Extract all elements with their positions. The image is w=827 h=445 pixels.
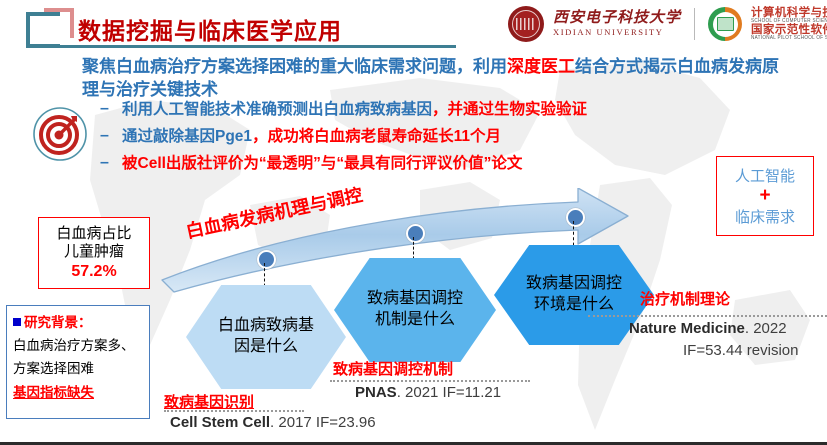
bullet-dash: – xyxy=(100,100,122,118)
hex-3-line1: 致病基因调控 xyxy=(526,274,622,295)
journal-3: Nature Medicine. 2022 xyxy=(629,320,787,337)
page-title: 数据挖掘与临床医学应用 xyxy=(78,12,342,46)
hex-2-line1: 致病基因调控 xyxy=(367,289,463,310)
title-underline xyxy=(58,45,456,48)
bullet-1-blue: 通过敲除基因Pge1 xyxy=(122,128,252,145)
university-name-cn: 西安电子科技大学 xyxy=(553,11,681,26)
background-line3: 基因指标缺失 xyxy=(13,381,143,404)
journal-3-line2: IF=53.44 revision xyxy=(683,342,798,359)
bullet-dash: – xyxy=(100,154,122,172)
hex-1-line1: 白血病致病基 xyxy=(218,316,314,337)
list-item: – 利用人工智能技术准确预测出白血病致病基因，并通过生物实验验证 xyxy=(100,100,740,121)
bracket-pink-icon xyxy=(44,8,74,38)
stat-line1: 白血病占比 xyxy=(56,225,131,243)
school-line2-en: NATIONAL PILOT SCHOOL OF SOFTWARE ENGINE… xyxy=(751,36,827,41)
plus-icon: + xyxy=(759,187,770,204)
university-name-en: XIDIAN UNIVERSITY xyxy=(553,28,681,37)
caption-red-3: 治疗机制理论 xyxy=(640,288,730,309)
school-line1-en: SCHOOL OF COMPUTER SCIENCE AND TECHNOLOG… xyxy=(751,19,827,24)
stat-line2: 儿童肿瘤 xyxy=(64,243,124,261)
logo-divider xyxy=(694,8,695,40)
ai-clinical-need-box: 人工智能 + 临床需求 xyxy=(716,156,814,236)
journal-3-rest: . 2022 xyxy=(745,320,787,337)
caption-red-2: 致病基因调控机制 xyxy=(333,358,453,379)
journal-1: Cell Stem Cell. 2017 IF=23.96 xyxy=(170,414,376,431)
bullet-0-blue: 利用人工智能技术准确预测出白血病致病基因 xyxy=(122,101,432,118)
bullet-list: – 利用人工智能技术准确预测出白血病致病基因，并通过生物实验验证 – 通过敲除基… xyxy=(100,100,740,181)
lead-paragraph: 聚焦白血病治疗方案选择困难的重大临床需求问题，利用深度医工结合方式揭示白血病发病… xyxy=(82,55,782,102)
university-name: 西安电子科技大学 XIDIAN UNIVERSITY xyxy=(553,11,681,37)
ai-box-line1: 人工智能 xyxy=(735,165,795,186)
node-knob-2 xyxy=(406,224,425,243)
journal-2: PNAS. 2021 IF=11.21 xyxy=(355,384,501,401)
lead-highlight: 深度医工 xyxy=(507,57,575,76)
hex-2-line2: 机制是什么 xyxy=(367,310,463,331)
bullet-2-red: 被Cell出版社评价为“最透明”与“最具有同行评议价值”论文 xyxy=(122,155,522,172)
bullet-dash: – xyxy=(100,127,122,145)
stat-percent: 57.2% xyxy=(71,262,116,282)
hexagon-node-1: 白血病致病基 因是什么 xyxy=(186,285,346,389)
bullet-1-red: ，成功将白血病老鼠寿命延长11个月 xyxy=(252,128,501,145)
background-line2: 方案选择困难 xyxy=(13,357,143,380)
list-item: – 被Cell出版社评价为“最透明”与“最具有同行评议价值”论文 xyxy=(100,154,740,175)
hex-1-line2: 因是什么 xyxy=(218,337,314,358)
square-bullet-icon xyxy=(13,318,21,326)
background-line1: 白血病治疗方案多、 xyxy=(13,334,143,357)
hex-3-line2: 环境是什么 xyxy=(526,295,622,316)
school-name: 计算机科学与技术学院 SCHOOL OF COMPUTER SCIENCE AN… xyxy=(751,7,827,41)
journal-1-name: Cell Stem Cell xyxy=(170,414,270,431)
journal-2-rest: . 2021 IF=11.21 xyxy=(397,384,501,401)
leukemia-ratio-box: 白血病占比 儿童肿瘤 57.2% xyxy=(38,217,150,289)
journal-3-name: Nature Medicine xyxy=(629,320,745,337)
research-background-box: 研究背景： 白血病治疗方案多、 方案选择困难 基因指标缺失 xyxy=(6,305,150,419)
journal-2-name: PNAS xyxy=(355,384,397,401)
target-bullseye-icon xyxy=(32,106,88,162)
logo-group: 西安电子科技大学 XIDIAN UNIVERSITY 计算机科学与技术学院 SC… xyxy=(508,6,827,42)
lead-part1: 聚焦白血病治疗方案选择困难的重大临床需求问题，利用 xyxy=(82,57,507,76)
slide-canvas: 数据挖掘与临床医学应用 西安电子科技大学 XIDIAN UNIVERSITY 计… xyxy=(0,0,827,445)
xidian-seal-icon xyxy=(508,6,544,42)
list-item: – 通过敲除基因Pge1，成功将白血病老鼠寿命延长11个月 xyxy=(100,127,740,148)
caption-rule-2 xyxy=(330,380,530,382)
caption-rule-1 xyxy=(164,410,304,412)
node-knob-1 xyxy=(257,250,276,269)
background-heading: 研究背景： xyxy=(13,311,143,334)
bullet-0-red: ，并通过生物实验验证 xyxy=(432,101,587,118)
caption-red-1: 致病基因识别 xyxy=(164,391,254,412)
node-knob-3 xyxy=(566,208,585,227)
journal-1-rest: . 2017 IF=23.96 xyxy=(270,414,376,431)
computer-monitor-badge-icon xyxy=(708,7,742,41)
caption-rule-3 xyxy=(588,315,827,317)
ai-box-line2: 临床需求 xyxy=(735,206,795,227)
